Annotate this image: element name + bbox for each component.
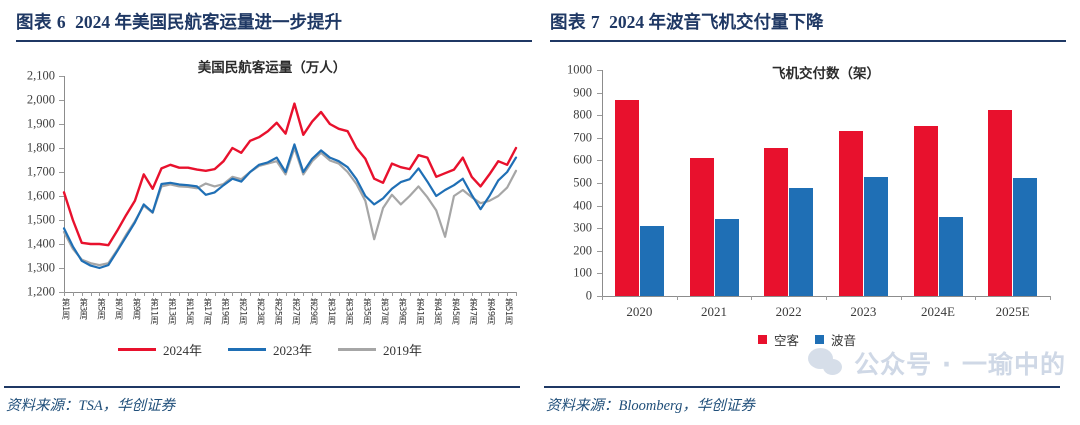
line-x-tick-mark xyxy=(91,292,92,296)
line-x-tick-mark xyxy=(330,292,331,296)
line-x-tick-label: 第37周 xyxy=(378,298,390,324)
figure-6-top-rule xyxy=(16,40,532,42)
line-x-tick-label: 第49周 xyxy=(484,298,496,324)
bar-legend-label: 空客 xyxy=(774,330,799,349)
bar-x-tick-mark xyxy=(975,296,976,300)
line-x-tick-mark xyxy=(117,292,118,296)
line-x-tick-mark xyxy=(188,292,189,296)
bar-legend-item[interactable]: 空客 xyxy=(758,330,799,349)
figure-7-title: 2024 年波音飞机交付量下降 xyxy=(609,9,823,34)
line-x-tick-mark xyxy=(321,292,322,296)
line-x-tick-mark xyxy=(277,292,278,296)
line-x-tick-mark xyxy=(170,292,171,296)
bar-legend-swatch-icon xyxy=(815,335,824,344)
bar-legend-item[interactable]: 波音 xyxy=(815,330,856,349)
bar-2020-空客 xyxy=(615,100,639,296)
line-x-tick-mark xyxy=(410,292,411,296)
bar-y-tick-label: 0 xyxy=(546,289,592,304)
line-x-tick-label: 第9周 xyxy=(130,298,142,319)
bar-x-category-label: 2020 xyxy=(602,304,677,320)
line-x-tick-label: 第3周 xyxy=(77,298,89,319)
us-air-passenger-line-chart: 美国民航客运量（万人） 1,2001,3001,4001,5001,6001,7… xyxy=(12,52,528,372)
line-x-tick-mark xyxy=(489,292,490,296)
figure-6-source: 资料来源：TSA，华创证券 xyxy=(6,394,175,415)
bar-chart-plot-area xyxy=(602,70,1050,296)
line-x-tick-mark xyxy=(64,292,65,296)
figure-7-bottom-rule xyxy=(544,386,1060,388)
figure-6-label: 图表 6 xyxy=(16,9,66,34)
line-x-tick-label: 第7周 xyxy=(112,298,124,319)
bar-x-tick-mark xyxy=(826,296,827,300)
line-x-tick-label: 第45周 xyxy=(449,298,461,324)
line-x-tick-label: 第21周 xyxy=(236,298,248,324)
line-x-tick-mark xyxy=(365,292,366,296)
line-x-tick-label: 第5周 xyxy=(94,298,106,319)
figure-6-bottom-rule xyxy=(4,386,520,388)
line-x-tick-label: 第43周 xyxy=(431,298,443,324)
bar-2021-波音 xyxy=(715,219,739,296)
line-x-tick-mark xyxy=(507,292,508,296)
line-x-tick-mark xyxy=(144,292,145,296)
line-legend-label: 2019年 xyxy=(383,340,422,359)
figure-7-label: 图表 7 xyxy=(550,9,600,34)
bar-y-tick-label: 600 xyxy=(546,153,592,168)
bar-legend-swatch-icon xyxy=(758,335,767,344)
bar-x-tick-mark xyxy=(602,296,603,300)
line-x-tick-label: 第23周 xyxy=(254,298,266,324)
line-x-tick-mark xyxy=(374,292,375,296)
line-x-tick-mark xyxy=(392,292,393,296)
bar-y-tick-label: 1000 xyxy=(546,63,592,78)
bar-x-category-label: 2024E xyxy=(901,304,976,320)
line-x-tick-label: 第31周 xyxy=(325,298,337,324)
line-x-tick-mark xyxy=(126,292,127,296)
bar-y-tick-label: 300 xyxy=(546,221,592,236)
line-x-tick-mark xyxy=(348,292,349,296)
bar-y-tick-label: 200 xyxy=(546,243,592,258)
line-legend-item[interactable]: 2023年 xyxy=(228,340,312,359)
line-legend-label: 2024年 xyxy=(163,340,202,359)
line-legend-item[interactable]: 2019年 xyxy=(338,340,422,359)
line-x-tick-label: 第15周 xyxy=(183,298,195,324)
line-x-tick-mark xyxy=(250,292,251,296)
line-legend-item[interactable]: 2024年 xyxy=(118,340,202,359)
bar-x-tick-mark xyxy=(1050,296,1051,300)
line-x-tick-mark xyxy=(135,292,136,296)
bar-x-category-label: 2021 xyxy=(677,304,752,320)
bar-2025E-波音 xyxy=(1013,178,1037,296)
line-x-tick-mark xyxy=(206,292,207,296)
bar-2022-波音 xyxy=(789,188,813,296)
bar-y-tick-label: 900 xyxy=(546,85,592,100)
line-x-tick-label: 第13周 xyxy=(165,298,177,324)
aircraft-delivery-bar-chart: 飞机交付数（架） 0100200300400500600700800900100… xyxy=(546,52,1068,372)
line-x-tick-mark xyxy=(294,292,295,296)
line-x-tick-mark xyxy=(99,292,100,296)
bar-y-tick-label: 400 xyxy=(546,198,592,213)
bar-x-category-label: 2022 xyxy=(751,304,826,320)
figure-7-top-rule xyxy=(550,40,1066,42)
line-x-tick-mark xyxy=(445,292,446,296)
line-x-tick-mark xyxy=(268,292,269,296)
line-x-tick-mark xyxy=(179,292,180,296)
line-x-tick-label: 第47周 xyxy=(467,298,479,324)
line-x-tick-label: 第41周 xyxy=(414,298,426,324)
bar-2020-波音 xyxy=(640,226,664,296)
bar-x-category-label: 2025E xyxy=(975,304,1050,320)
line-x-tick-label: 第33周 xyxy=(343,298,355,324)
line-x-tick-mark xyxy=(82,292,83,296)
line-x-tick-mark xyxy=(481,292,482,296)
bar-2025E-空客 xyxy=(988,110,1012,296)
line-x-tick-mark xyxy=(339,292,340,296)
line-x-tick-mark xyxy=(383,292,384,296)
bar-2024E-空客 xyxy=(914,126,938,296)
bar-x-category-label: 2023 xyxy=(826,304,901,320)
line-x-tick-mark xyxy=(356,292,357,296)
line-legend-swatch-icon xyxy=(228,348,266,351)
bar-chart-legend: 空客波音 xyxy=(546,330,1068,349)
line-x-tick-mark xyxy=(436,292,437,296)
line-x-tick-mark xyxy=(241,292,242,296)
line-x-tick-mark xyxy=(516,292,517,296)
line-series-group xyxy=(12,52,528,372)
line-x-tick-mark xyxy=(161,292,162,296)
line-x-tick-mark xyxy=(215,292,216,296)
line-x-tick-mark xyxy=(108,292,109,296)
line-x-tick-label: 第17周 xyxy=(201,298,213,324)
line-x-tick-mark xyxy=(472,292,473,296)
line-x-tick-label: 第39周 xyxy=(396,298,408,324)
figure-6-title: 2024 年美国民航客运量进一步提升 xyxy=(75,9,342,34)
line-x-tick-mark xyxy=(312,292,313,296)
figure-7-panel: 图表 7 2024 年波音飞机交付量下降 飞机交付数（架） 0100200300… xyxy=(540,0,1080,425)
bar-2023-空客 xyxy=(839,131,863,296)
line-x-tick-mark xyxy=(286,292,287,296)
figure-pair-page: 图表 6 2024 年美国民航客运量进一步提升 美国民航客运量（万人） 1,20… xyxy=(0,0,1080,425)
line-x-tick-mark xyxy=(197,292,198,296)
bar-2022-空客 xyxy=(764,148,788,296)
bar-2023-波音 xyxy=(864,177,888,296)
line-x-tick-mark xyxy=(419,292,420,296)
line-x-tick-label: 第19周 xyxy=(219,298,231,324)
line-x-tick-label: 第1周 xyxy=(59,298,71,319)
line-x-tick-mark xyxy=(73,292,74,296)
bar-2024E-波音 xyxy=(939,217,963,296)
line-x-tick-label: 第29周 xyxy=(307,298,319,324)
figure-7-heading: 图表 7 2024 年波音飞机交付量下降 xyxy=(546,0,1070,34)
line-x-tick-mark xyxy=(498,292,499,296)
line-legend-swatch-icon xyxy=(338,348,376,351)
line-x-tick-mark xyxy=(427,292,428,296)
line-x-tick-mark xyxy=(463,292,464,296)
line-legend-label: 2023年 xyxy=(273,340,312,359)
line-x-tick-mark xyxy=(401,292,402,296)
bar-x-tick-mark xyxy=(901,296,902,300)
bar-legend-label: 波音 xyxy=(831,330,856,349)
line-x-tick-mark xyxy=(232,292,233,296)
bar-y-tick-label: 700 xyxy=(546,130,592,145)
bar-x-tick-mark xyxy=(751,296,752,300)
line-x-tick-label: 第25周 xyxy=(272,298,284,324)
bar-x-tick-mark xyxy=(677,296,678,300)
bar-y-tick-label: 100 xyxy=(546,266,592,281)
bar-2021-空客 xyxy=(690,158,714,296)
figure-6-heading: 图表 6 2024 年美国民航客运量进一步提升 xyxy=(12,0,530,34)
line-legend-swatch-icon xyxy=(118,348,156,351)
line-x-tick-label: 第51周 xyxy=(502,298,514,324)
bar-y-tick-label: 500 xyxy=(546,176,592,191)
line-x-tick-mark xyxy=(303,292,304,296)
line-x-tick-mark xyxy=(259,292,260,296)
line-x-tick-label: 第11周 xyxy=(148,298,160,324)
line-x-tick-mark xyxy=(224,292,225,296)
line-x-tick-mark xyxy=(153,292,154,296)
bar-y-tick-label: 800 xyxy=(546,108,592,123)
figure-7-source: 资料来源：Bloomberg，华创证券 xyxy=(546,394,755,415)
line-x-tick-mark xyxy=(454,292,455,296)
line-x-tick-label: 第27周 xyxy=(289,298,301,324)
figure-6-panel: 图表 6 2024 年美国民航客运量进一步提升 美国民航客运量（万人） 1,20… xyxy=(0,0,540,425)
line-x-tick-label: 第35周 xyxy=(360,298,372,324)
line-chart-legend: 2024年2023年2019年 xyxy=(12,340,528,359)
